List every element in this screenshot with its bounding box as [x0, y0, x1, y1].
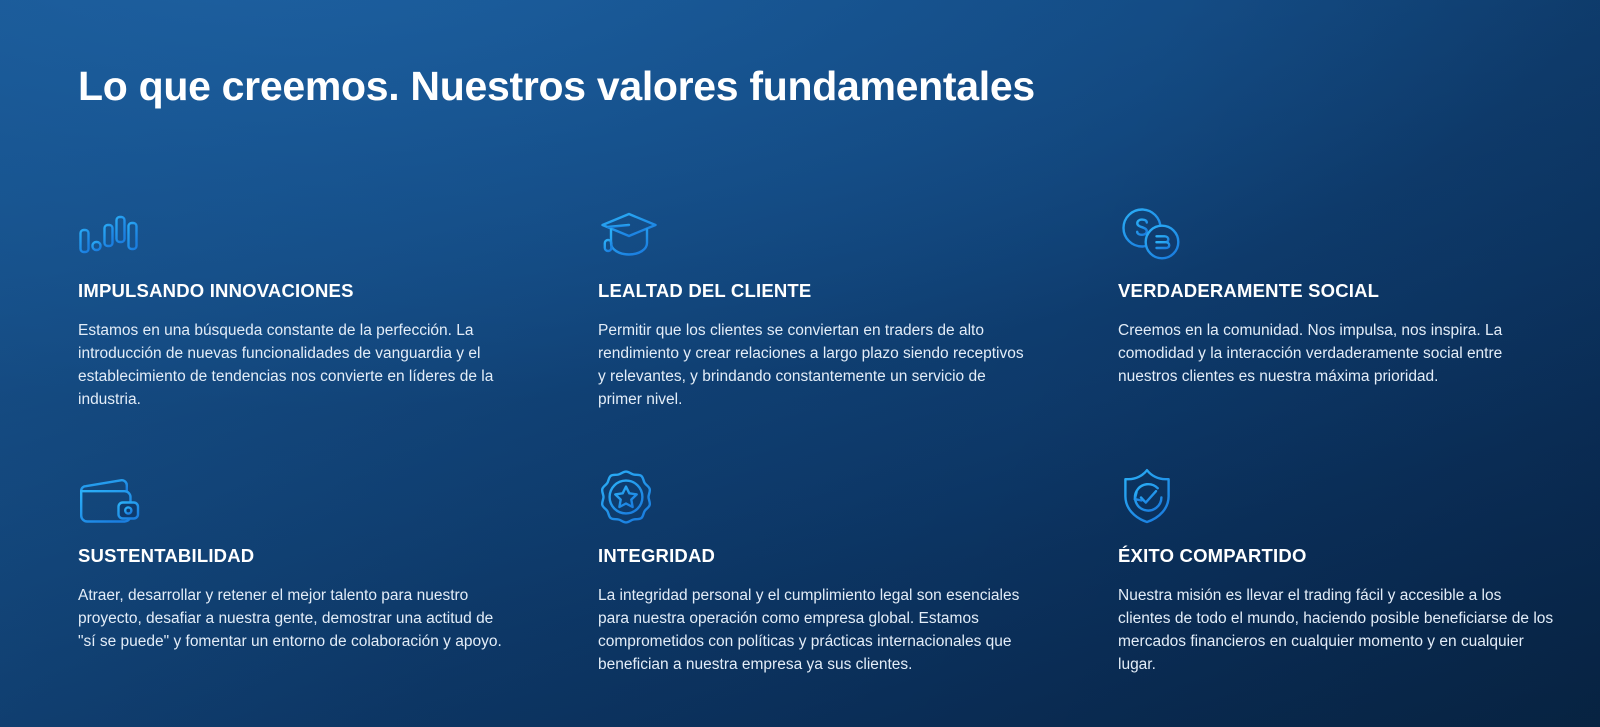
value-card-exito-compartido: ÉXITO COMPARTIDO Nuestra misión es lleva… — [1118, 463, 1600, 676]
star-badge-icon — [598, 463, 1078, 525]
value-card-title: VERDADERAMENTE SOCIAL — [1118, 280, 1562, 302]
page-title: Lo que creemos. Nuestros valores fundame… — [78, 0, 1522, 110]
value-card-body: Creemos en la comunidad. Nos impulsa, no… — [1118, 319, 1558, 388]
values-grid: IMPULSANDO INNOVACIONES Estamos en una b… — [78, 198, 1522, 727]
wallet-icon — [78, 463, 558, 525]
candlestick-chart-icon — [78, 198, 558, 260]
value-card-body: Permitir que los clientes se conviertan … — [598, 319, 1028, 411]
value-card-body: Estamos en una búsqueda constante de la … — [78, 319, 508, 411]
value-card-body: Nuestra misión es llevar el trading fáci… — [1118, 584, 1558, 676]
value-card-integridad: INTEGRIDAD La integridad personal y el c… — [598, 463, 1118, 676]
value-card-sustentabilidad: SUSTENTABILIDAD Atraer, desarrollar y re… — [78, 463, 598, 676]
section-content: Lo que creemos. Nuestros valores fundame… — [0, 0, 1600, 727]
value-card-body: La integridad personal y el cumplimiento… — [598, 584, 1028, 676]
value-card-body: Atraer, desarrollar y retener el mejor t… — [78, 584, 508, 653]
graduation-cap-icon — [598, 198, 1078, 260]
value-card-verdaderamente-social: VERDADERAMENTE SOCIAL Creemos en la comu… — [1118, 198, 1600, 411]
value-card-title: LEALTAD DEL CLIENTE — [598, 280, 1078, 302]
values-section: Lo que creemos. Nuestros valores fundame… — [0, 0, 1600, 727]
value-card-impulsando-innovaciones: IMPULSANDO INNOVACIONES Estamos en una b… — [78, 198, 598, 411]
value-card-title: SUSTENTABILIDAD — [78, 545, 558, 567]
value-card-title: INTEGRIDAD — [598, 545, 1078, 567]
value-card-title: ÉXITO COMPARTIDO — [1118, 545, 1562, 567]
value-card-lealtad-del-cliente: LEALTAD DEL CLIENTE Permitir que los cli… — [598, 198, 1118, 411]
shield-check-icon — [1118, 463, 1562, 525]
value-card-title: IMPULSANDO INNOVACIONES — [78, 280, 558, 302]
dollar-bitcoin-coins-icon — [1118, 198, 1562, 260]
